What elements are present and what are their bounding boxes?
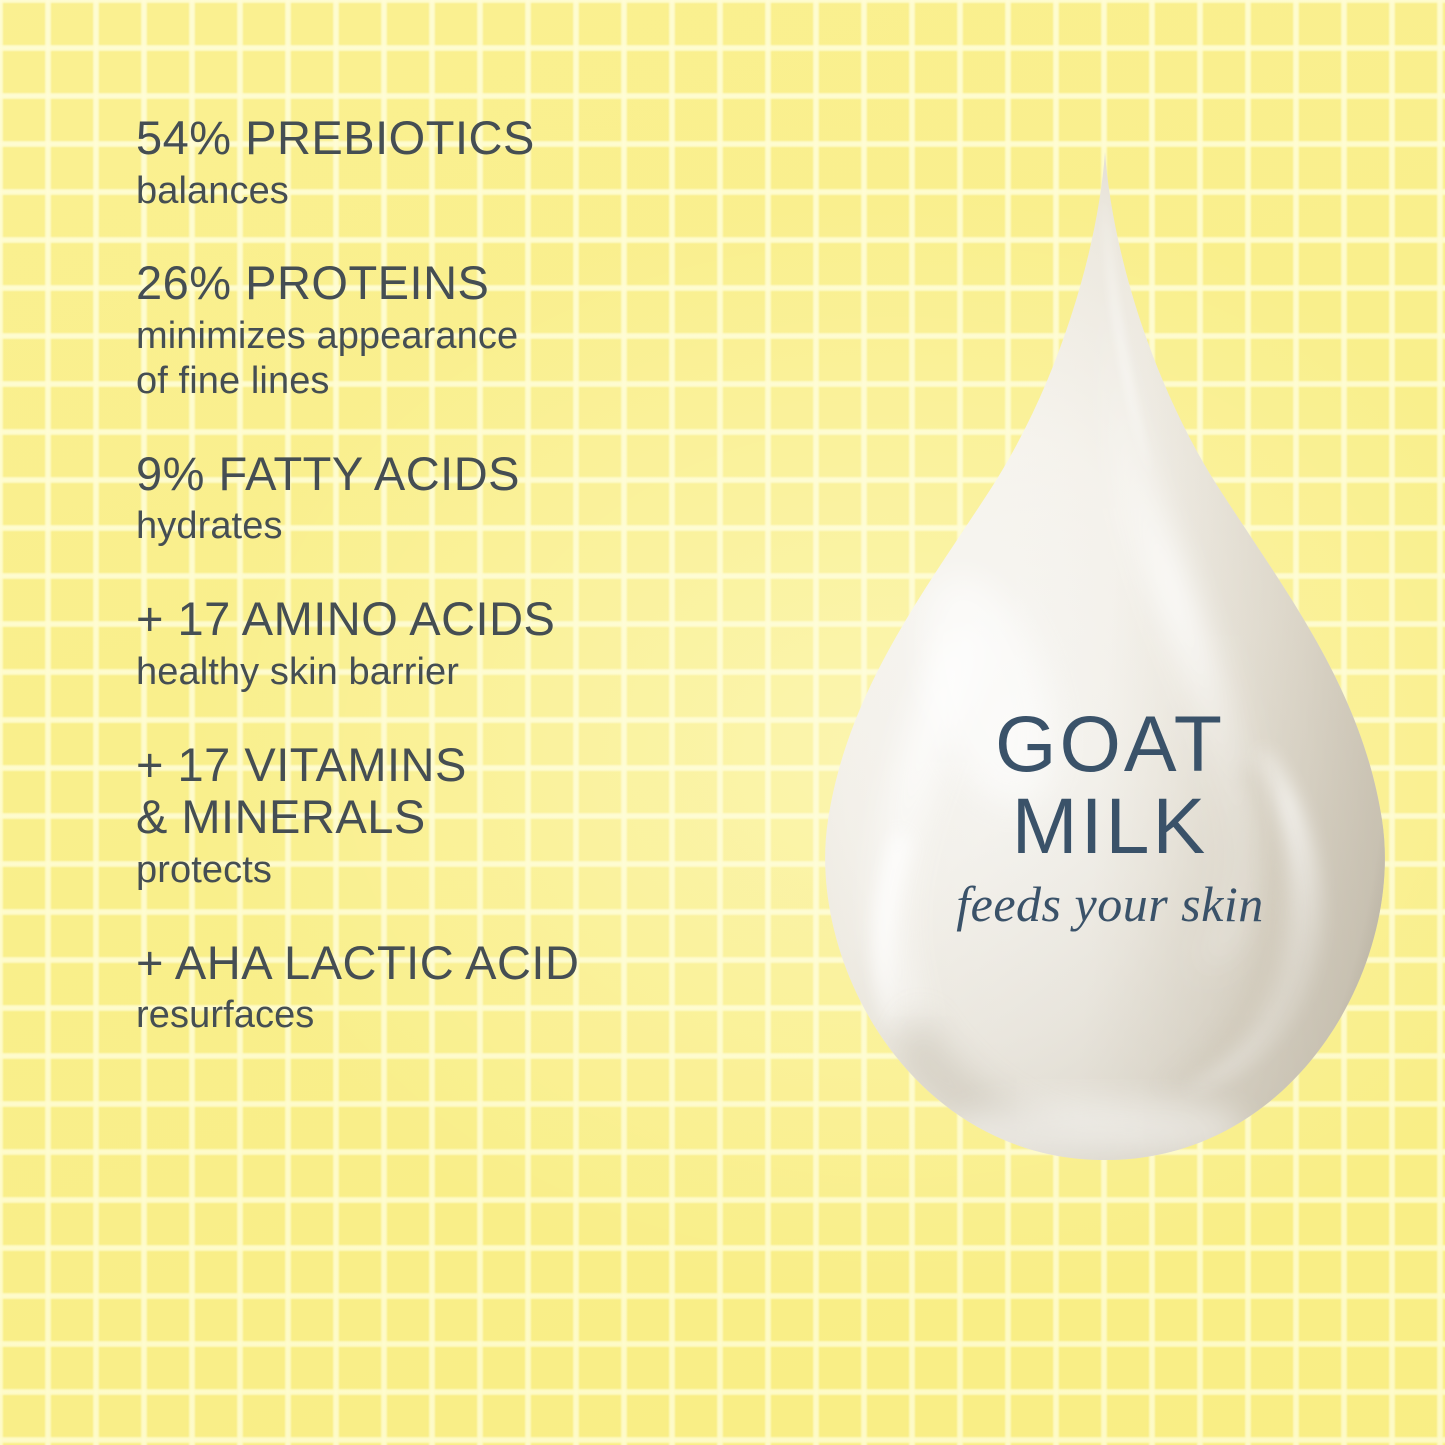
ingredient-headline: + AHA LACTIC ACID xyxy=(136,937,796,990)
infographic-canvas: GOAT MILK feeds your skin 54% PREBIOTICS… xyxy=(0,0,1445,1445)
ingredient-headline: 26% PROTEINS xyxy=(136,257,796,310)
ingredient-item-prebiotics: 54% PREBIOTICS balances xyxy=(136,112,796,213)
ingredient-item-amino-acids: + 17 AMINO ACIDS healthy skin barrier xyxy=(136,593,796,694)
ingredient-list: 54% PREBIOTICS balances 26% PROTEINS min… xyxy=(136,112,796,1038)
ingredient-headline: + 17 AMINO ACIDS xyxy=(136,593,796,646)
ingredient-benefit: protects xyxy=(136,848,796,893)
ingredient-item-fatty-acids: 9% FATTY ACIDS hydrates xyxy=(136,448,796,549)
ingredient-headline: 9% FATTY ACIDS xyxy=(136,448,796,501)
ingredient-headline: + 17 VITAMINS & MINERALS xyxy=(136,739,796,844)
ingredient-benefit: minimizes appearance of fine lines xyxy=(136,314,796,404)
ingredient-benefit: hydrates xyxy=(136,504,796,549)
ingredient-benefit: healthy skin barrier xyxy=(136,650,796,695)
ingredient-benefit: balances xyxy=(136,169,796,214)
ingredient-headline: 54% PREBIOTICS xyxy=(136,112,796,165)
ingredient-item-aha-lactic-acid: + AHA LACTIC ACID resurfaces xyxy=(136,937,796,1038)
ingredient-benefit: resurfaces xyxy=(136,993,796,1038)
milk-droplet-illustration xyxy=(800,130,1420,1190)
ingredient-item-vitamins-minerals: + 17 VITAMINS & MINERALS protects xyxy=(136,739,796,893)
ingredient-item-proteins: 26% PROTEINS minimizes appearance of fin… xyxy=(136,257,796,403)
